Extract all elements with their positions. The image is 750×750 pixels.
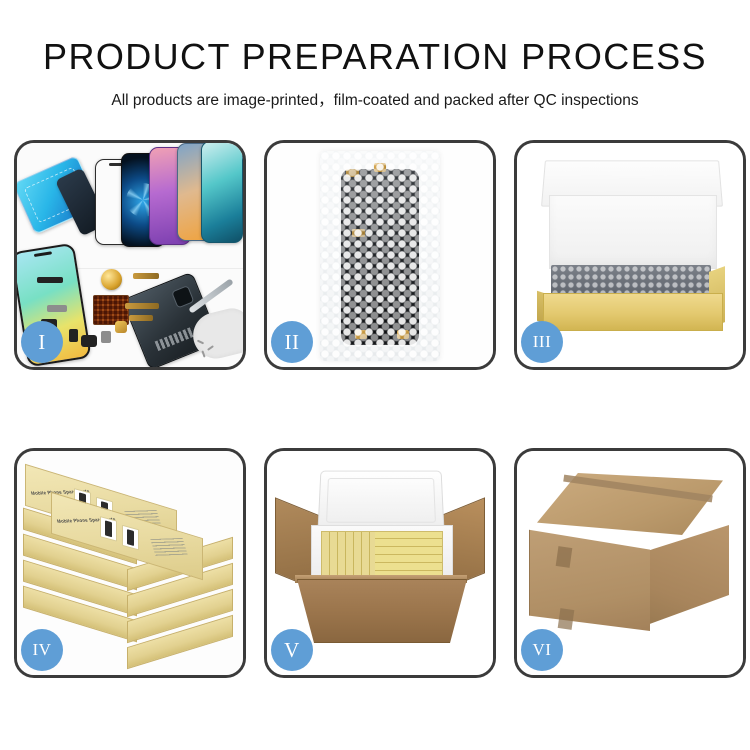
carton-body: [297, 579, 467, 643]
gold-contact-part: [115, 321, 127, 333]
page-title: PRODUCT PREPARATION PROCESS: [0, 38, 750, 76]
phone-teal-display: [201, 143, 243, 243]
process-step-card-4[interactable]: Mobile Phone Spare Parts Mobile Phone Sp…: [14, 448, 246, 678]
step-badge-3: III: [521, 321, 563, 363]
process-step-grid: I II: [14, 140, 736, 678]
box-spec-lines-2: [150, 538, 187, 556]
process-step-card-5[interactable]: V: [264, 448, 496, 678]
process-step-card-6[interactable]: VI: [514, 448, 746, 678]
flex-cable-top: [133, 273, 159, 279]
flex-cable-low: [129, 315, 153, 321]
vibrator-part: [69, 329, 78, 342]
box-window-2a: [100, 516, 117, 542]
step-badge-4: IV: [21, 629, 63, 671]
page-subtitle: All products are image-printed，film-coat…: [0, 88, 750, 110]
carton-seam-lower: [558, 608, 575, 630]
step-badge-2: II: [271, 321, 313, 363]
foam-cooler-lid: [318, 471, 445, 531]
earpiece-mesh-part: [37, 277, 63, 283]
bubble-texture-back: [320, 151, 440, 361]
box-stack: Mobile Phone Spare Parts Mobile Phone Sp…: [23, 469, 235, 661]
screws-group: [197, 341, 221, 359]
foam-sheet: [549, 195, 717, 269]
carton-top-panel: [537, 473, 723, 535]
inner-box-front-panel: [543, 293, 723, 331]
carton-seam-upper: [556, 546, 573, 568]
product-preparation-page: PRODUCT PREPARATION PROCESS All products…: [0, 0, 750, 750]
speaker-coil-part: [101, 269, 122, 290]
process-step-card-1[interactable]: I: [14, 140, 246, 370]
housing-print: [155, 327, 196, 351]
carton-side-panel: [647, 525, 729, 625]
camera-module-icon: [171, 285, 194, 308]
bubble-wrap-bag: [320, 151, 440, 361]
step-badge-1: I: [21, 321, 63, 363]
step-badge-6: VI: [521, 629, 563, 671]
packed-yellow-boxes: [321, 531, 443, 579]
process-step-card-3[interactable]: III: [514, 140, 746, 370]
sim-tray-part: [101, 331, 111, 343]
taptic-part: [81, 335, 97, 347]
step-badge-5: V: [271, 629, 313, 671]
carton-front-panel: [529, 521, 650, 631]
flex-cable-mid: [125, 303, 159, 309]
process-step-card-2[interactable]: II: [264, 140, 496, 370]
page-header: PRODUCT PREPARATION PROCESS All products…: [0, 0, 750, 110]
box-window-2b: [122, 525, 139, 551]
bracket-part: [47, 305, 67, 312]
